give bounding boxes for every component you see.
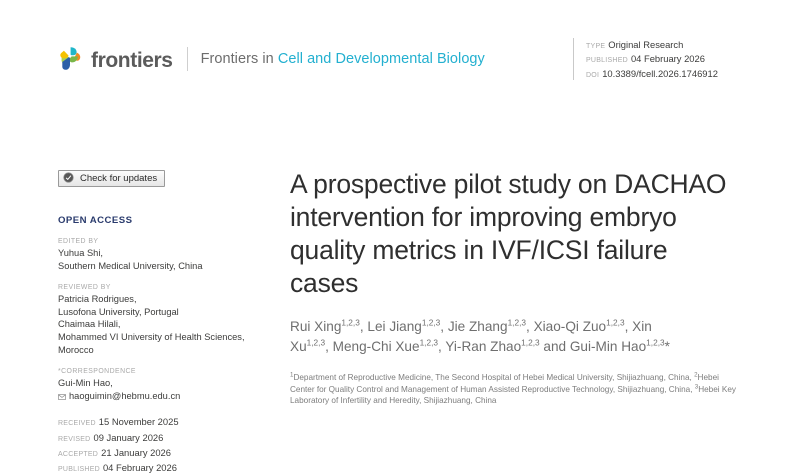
meta-value-published: 04 February 2026 xyxy=(631,53,705,64)
frontiers-logo-icon xyxy=(58,46,84,72)
date-label-received: RECEIVED xyxy=(58,420,96,427)
date-label-accepted: ACCEPTED xyxy=(58,451,98,458)
meta-row-doi[interactable]: DOI10.3389/fcell.2026.1746912 xyxy=(586,68,718,82)
reviewed-by-block: REVIEWED BY Patricia Rodrigues, Lusofona… xyxy=(58,284,258,356)
meta-divider-rule xyxy=(573,38,574,80)
date-value-published: 04 February 2026 xyxy=(103,462,177,473)
meta-value-type: Original Research xyxy=(608,39,683,50)
date-row-published: PUBLISHED04 February 2026 xyxy=(58,461,258,476)
journal-prefix: Frontiers in xyxy=(201,51,274,67)
edited-by-block: EDITED BY Yuhua Shi, Southern Medical Un… xyxy=(58,238,258,272)
date-value-accepted: 21 January 2026 xyxy=(101,447,171,458)
reviewed-by-value: Patricia Rodrigues, Lusofona University,… xyxy=(58,293,258,356)
date-label-published: PUBLISHED xyxy=(58,466,100,473)
frontiers-brand[interactable]: frontiers Frontiers in Cell and Developm… xyxy=(58,44,485,74)
meta-value-doi: 10.3389/fcell.2026.1746912 xyxy=(602,68,718,79)
edited-by-value: Yuhua Shi, Southern Medical University, … xyxy=(58,247,258,272)
date-value-revised: 09 January 2026 xyxy=(93,432,163,443)
date-label-revised: REVISED xyxy=(58,436,90,443)
check-for-updates-button[interactable]: Check for updates xyxy=(58,170,165,187)
publication-metadata: TYPEOriginal Research PUBLISHED04 Februa… xyxy=(586,39,718,82)
reviewed-by-label: REVIEWED BY xyxy=(58,284,258,291)
correspondence-label: *CORRESPONDENCE xyxy=(58,368,258,375)
open-access-badge: OPEN ACCESS xyxy=(58,215,258,226)
meta-row-published: PUBLISHED04 February 2026 xyxy=(586,53,718,67)
correspondence-block: *CORRESPONDENCE Gui-Min Hao, haoguimin@h… xyxy=(58,368,258,402)
meta-label-published: PUBLISHED xyxy=(586,57,628,64)
correspondence-name: Gui-Min Hao, xyxy=(58,377,258,390)
date-row-received: RECEIVED15 November 2025 xyxy=(58,415,258,430)
correspondence-email-row[interactable]: haoguimin@hebmu.edu.cn xyxy=(58,390,258,403)
journal-name: Cell and Developmental Biology xyxy=(278,51,485,67)
envelope-icon xyxy=(58,391,66,404)
article-title: A prospective pilot study on DACHAO inte… xyxy=(290,168,740,300)
journal-title[interactable]: Frontiers in Cell and Developmental Biol… xyxy=(201,51,485,67)
correspondence-email: haoguimin@hebmu.edu.cn xyxy=(69,390,180,403)
brand-wordmark: frontiers xyxy=(91,50,173,71)
article-main: A prospective pilot study on DACHAO inte… xyxy=(290,168,740,407)
check-for-updates-label: Check for updates xyxy=(80,174,157,184)
affiliations: 1Department of Reproductive Medicine, Th… xyxy=(290,372,740,407)
article-sidebar: Check for updates OPEN ACCESS EDITED BY … xyxy=(58,170,258,476)
author-list: Rui Xing1,2,3, Lei Jiang1,2,3, Jie Zhang… xyxy=(290,317,690,356)
meta-label-doi: DOI xyxy=(586,72,599,79)
page-header: frontiers Frontiers in Cell and Developm… xyxy=(0,0,789,96)
date-value-received: 15 November 2025 xyxy=(99,416,179,427)
brand-divider xyxy=(187,47,188,71)
article-dates: RECEIVED15 November 2025 REVISED09 Janua… xyxy=(58,415,258,476)
edited-by-label: EDITED BY xyxy=(58,238,258,245)
meta-row-type: TYPEOriginal Research xyxy=(586,39,718,53)
meta-label-type: TYPE xyxy=(586,43,605,50)
crossmark-icon xyxy=(63,172,74,186)
date-row-revised: REVISED09 January 2026 xyxy=(58,431,258,446)
